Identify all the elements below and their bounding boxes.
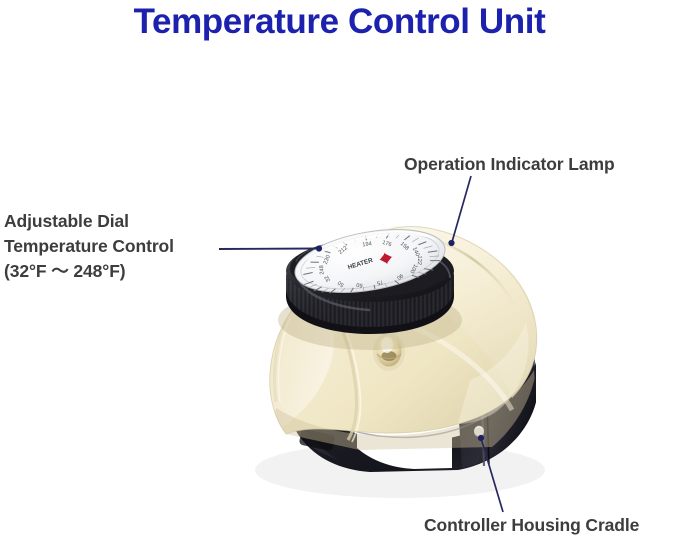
svg-text:122: 122: [416, 255, 423, 265]
callout-dial-line-3: (32°F ～ 248°F): [4, 259, 174, 284]
svg-text:60: 60: [356, 281, 363, 288]
callout-controller-housing-cradle: Controller Housing Cradle: [424, 513, 639, 538]
callout-dial-line-1: Adjustable Dial: [4, 209, 174, 234]
callout-operation-indicator-lamp: Operation Indicator Lamp: [404, 152, 615, 177]
illustration-canvas: Temperature Control Unit: [0, 0, 679, 541]
svg-text:248: 248: [319, 265, 326, 275]
callout-adjustable-dial: Adjustable Dial Temperature Control (32°…: [4, 209, 174, 284]
callout-dial-line-2: Temperature Control: [4, 234, 174, 259]
